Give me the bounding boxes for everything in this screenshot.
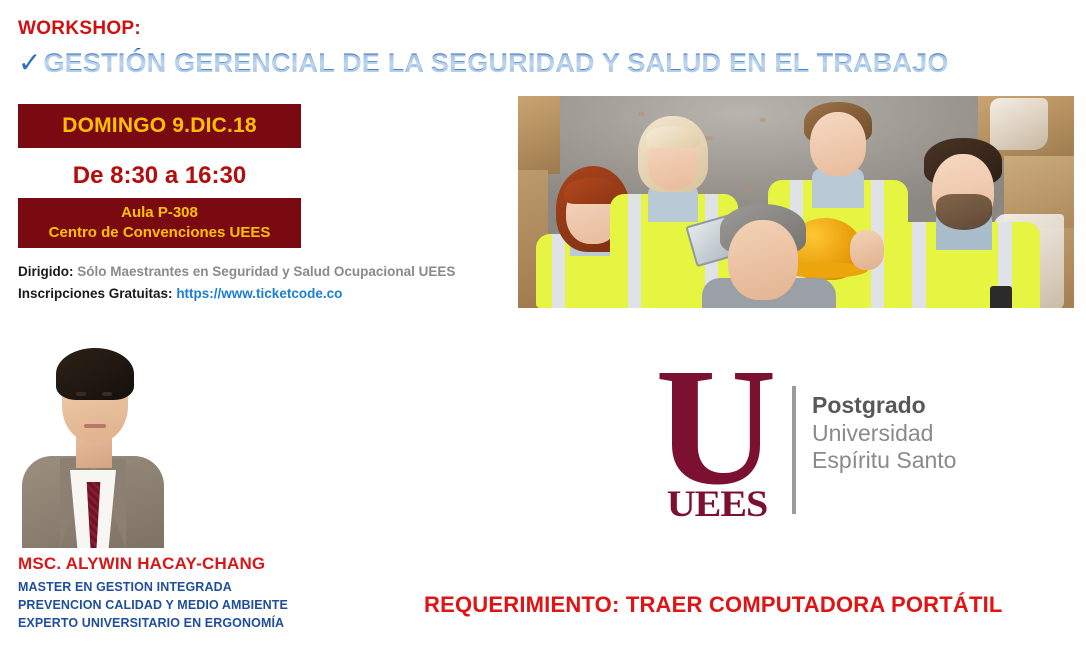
photo-scanner [990, 286, 1012, 308]
speaker-credential-line: PREVENCION CALIDAD Y MEDIO AMBIENTE [18, 596, 288, 614]
photo-floor-speck [744, 188, 751, 191]
team-photo [518, 96, 1074, 308]
details-block: Dirigido: Sólo Maestrantes en Seguridad … [18, 261, 455, 306]
event-venue-box: Aula P-308 Centro de Convenciones UEES [18, 198, 301, 248]
page-title: GESTIÓN GERENCIAL DE LA SEGURIDAD Y SALU… [43, 48, 948, 79]
photo-face [810, 112, 866, 176]
photo-beard [936, 194, 992, 230]
workshop-label: WORKSHOP: [18, 18, 141, 40]
uees-wordmark: UEES [654, 482, 780, 525]
photo-person [694, 204, 844, 308]
uees-logo-text: Postgrado Universidad Espíritu Santo [812, 392, 956, 475]
check-icon: ✓ [18, 49, 41, 77]
event-venue: Centro de Convenciones UEES [49, 224, 271, 243]
registration-url-link[interactable]: https://www.ticketcode.co [176, 286, 342, 301]
event-date: DOMINGO 9.DIC.18 [62, 114, 257, 138]
logo-line-espiritu-santo: Espíritu Santo [812, 447, 956, 475]
event-time: De 8:30 a 16:30 [18, 162, 301, 190]
uees-monogram: U [652, 372, 780, 490]
portrait-hair [56, 348, 134, 400]
uees-logo: U UEES Postgrado Universidad Espíritu Sa… [652, 372, 972, 528]
speaker-credentials: MASTER EN GESTION INTEGRADA PREVENCION C… [18, 578, 288, 632]
portrait-eye [76, 392, 86, 396]
headline-row: ✓ GESTIÓN GERENCIAL DE LA SEGURIDAD Y SA… [18, 48, 949, 79]
uees-logo-mark: U UEES [652, 372, 784, 528]
speaker-name: MSC. ALYWIN HACAY-CHANG [18, 554, 265, 574]
portrait-mouth [84, 424, 106, 428]
flyer-canvas: WORKSHOP: ✓ GESTIÓN GERENCIAL DE LA SEGU… [0, 0, 1086, 662]
photo-hand [850, 230, 884, 270]
audience-line: Dirigido: Sólo Maestrantes en Seguridad … [18, 261, 455, 283]
speaker-credential-line: MASTER EN GESTION INTEGRADA [18, 578, 288, 596]
speaker-credential-line: EXPERTO UNIVERSITARIO EN ERGONOMÍA [18, 614, 288, 632]
photo-person [882, 136, 1048, 308]
logo-line-universidad: Universidad [812, 420, 956, 448]
photo-face [728, 220, 798, 300]
audience-value: Sólo Maestrantes en Seguridad y Salud Oc… [77, 264, 455, 279]
requirement-banner: REQUERIMIENTO: TRAER COMPUTADORA PORTÁTI… [424, 592, 1003, 618]
audience-label: Dirigido: [18, 264, 74, 279]
event-room: Aula P-308 [121, 204, 198, 223]
registration-line: Inscripciones Gratuitas: https://www.tic… [18, 283, 455, 305]
event-date-box: DOMINGO 9.DIC.18 [18, 104, 301, 148]
registration-label: Inscripciones Gratuitas: [18, 286, 173, 301]
avatar [22, 330, 164, 548]
photo-hair [646, 126, 700, 148]
logo-divider [792, 386, 796, 514]
logo-line-postgrado: Postgrado [812, 392, 956, 420]
portrait-eye [102, 392, 112, 396]
